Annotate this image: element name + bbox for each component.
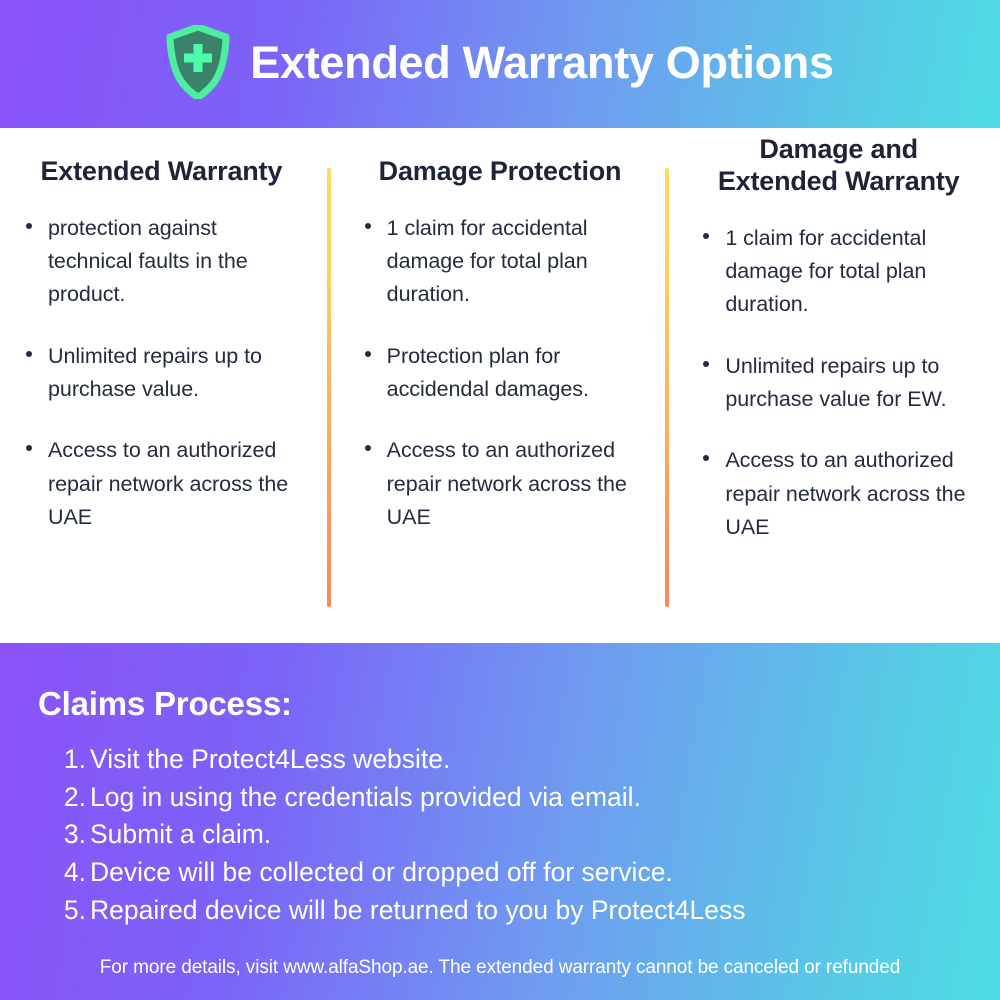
bullet-dot <box>703 233 709 239</box>
list-item: protection against technical faults in t… <box>22 212 301 312</box>
bullet-dot <box>365 351 371 357</box>
benefit-text: 1 claim for accidental damage for total … <box>387 216 588 307</box>
plan-column-damage-protection: Damage Protection 1 claim for accidental… <box>331 156 666 643</box>
plan-column-extended-warranty: Extended Warranty protection against tec… <box>0 156 327 643</box>
list-item: Access to an authorized repair network a… <box>22 434 301 534</box>
plan-benefit-list: 1 claim for accidental damage for total … <box>361 212 640 535</box>
bullet-dot <box>26 351 32 357</box>
benefit-text: Access to an authorized repair network a… <box>725 448 965 539</box>
benefit-text: protection against technical faults in t… <box>48 216 248 307</box>
claims-step-list: Visit the Protect4Less website. Log in u… <box>38 741 972 929</box>
list-item: Unlimited repairs up to purchase value f… <box>699 350 978 417</box>
bullet-dot <box>365 445 371 451</box>
plan-title: Extended Warranty <box>22 156 301 188</box>
plan-title: Damage Protection <box>361 156 640 188</box>
benefit-text: Access to an authorized repair network a… <box>48 438 288 529</box>
bullet-dot <box>703 361 709 367</box>
plan-benefit-list: 1 claim for accidental damage for total … <box>699 222 978 545</box>
list-item: Visit the Protect4Less website. <box>60 741 972 779</box>
bullet-dot <box>365 223 371 229</box>
list-item: Protection plan for accidendal damages. <box>361 340 640 407</box>
benefit-text: 1 claim for accidental damage for total … <box>725 226 926 317</box>
footer-disclaimer: For more details, visit www.alfaShop.ae.… <box>38 957 972 979</box>
bullet-dot <box>26 445 32 451</box>
bullet-dot <box>26 223 32 229</box>
list-item: 1 claim for accidental damage for total … <box>361 212 640 312</box>
claims-process-title: Claims Process: <box>38 685 972 723</box>
shield-plus-icon <box>166 25 230 99</box>
benefit-text: Access to an authorized repair network a… <box>387 438 627 529</box>
page-title: Extended Warranty Options <box>250 40 833 85</box>
bullet-dot <box>703 455 709 461</box>
benefit-text: Protection plan for accidendal damages. <box>387 344 589 401</box>
plan-column-damage-and-extended-warranty: Damage and Extended Warranty 1 claim for… <box>669 156 1000 643</box>
benefit-text: Unlimited repairs up to purchase value. <box>48 344 262 401</box>
list-item: Access to an authorized repair network a… <box>361 434 640 534</box>
warranty-infographic: Extended Warranty Options Extended Warra… <box>0 0 1000 1000</box>
list-item: Device will be collected or dropped off … <box>60 854 972 892</box>
header-banner: Extended Warranty Options <box>0 0 1000 128</box>
list-item: 1 claim for accidental damage for total … <box>699 222 978 322</box>
plan-title: Damage and Extended Warranty <box>699 134 978 198</box>
list-item: Unlimited repairs up to purchase value. <box>22 340 301 407</box>
list-item: Log in using the credentials provided vi… <box>60 779 972 817</box>
claims-process-section: Claims Process: Visit the Protect4Less w… <box>0 643 1000 1000</box>
list-item: Submit a claim. <box>60 816 972 854</box>
benefit-text: Unlimited repairs up to purchase value f… <box>725 354 946 411</box>
plan-benefit-list: protection against technical faults in t… <box>22 212 301 535</box>
plan-comparison: Extended Warranty protection against tec… <box>0 128 1000 643</box>
list-item: Access to an authorized repair network a… <box>699 444 978 544</box>
list-item: Repaired device will be returned to you … <box>60 892 972 930</box>
